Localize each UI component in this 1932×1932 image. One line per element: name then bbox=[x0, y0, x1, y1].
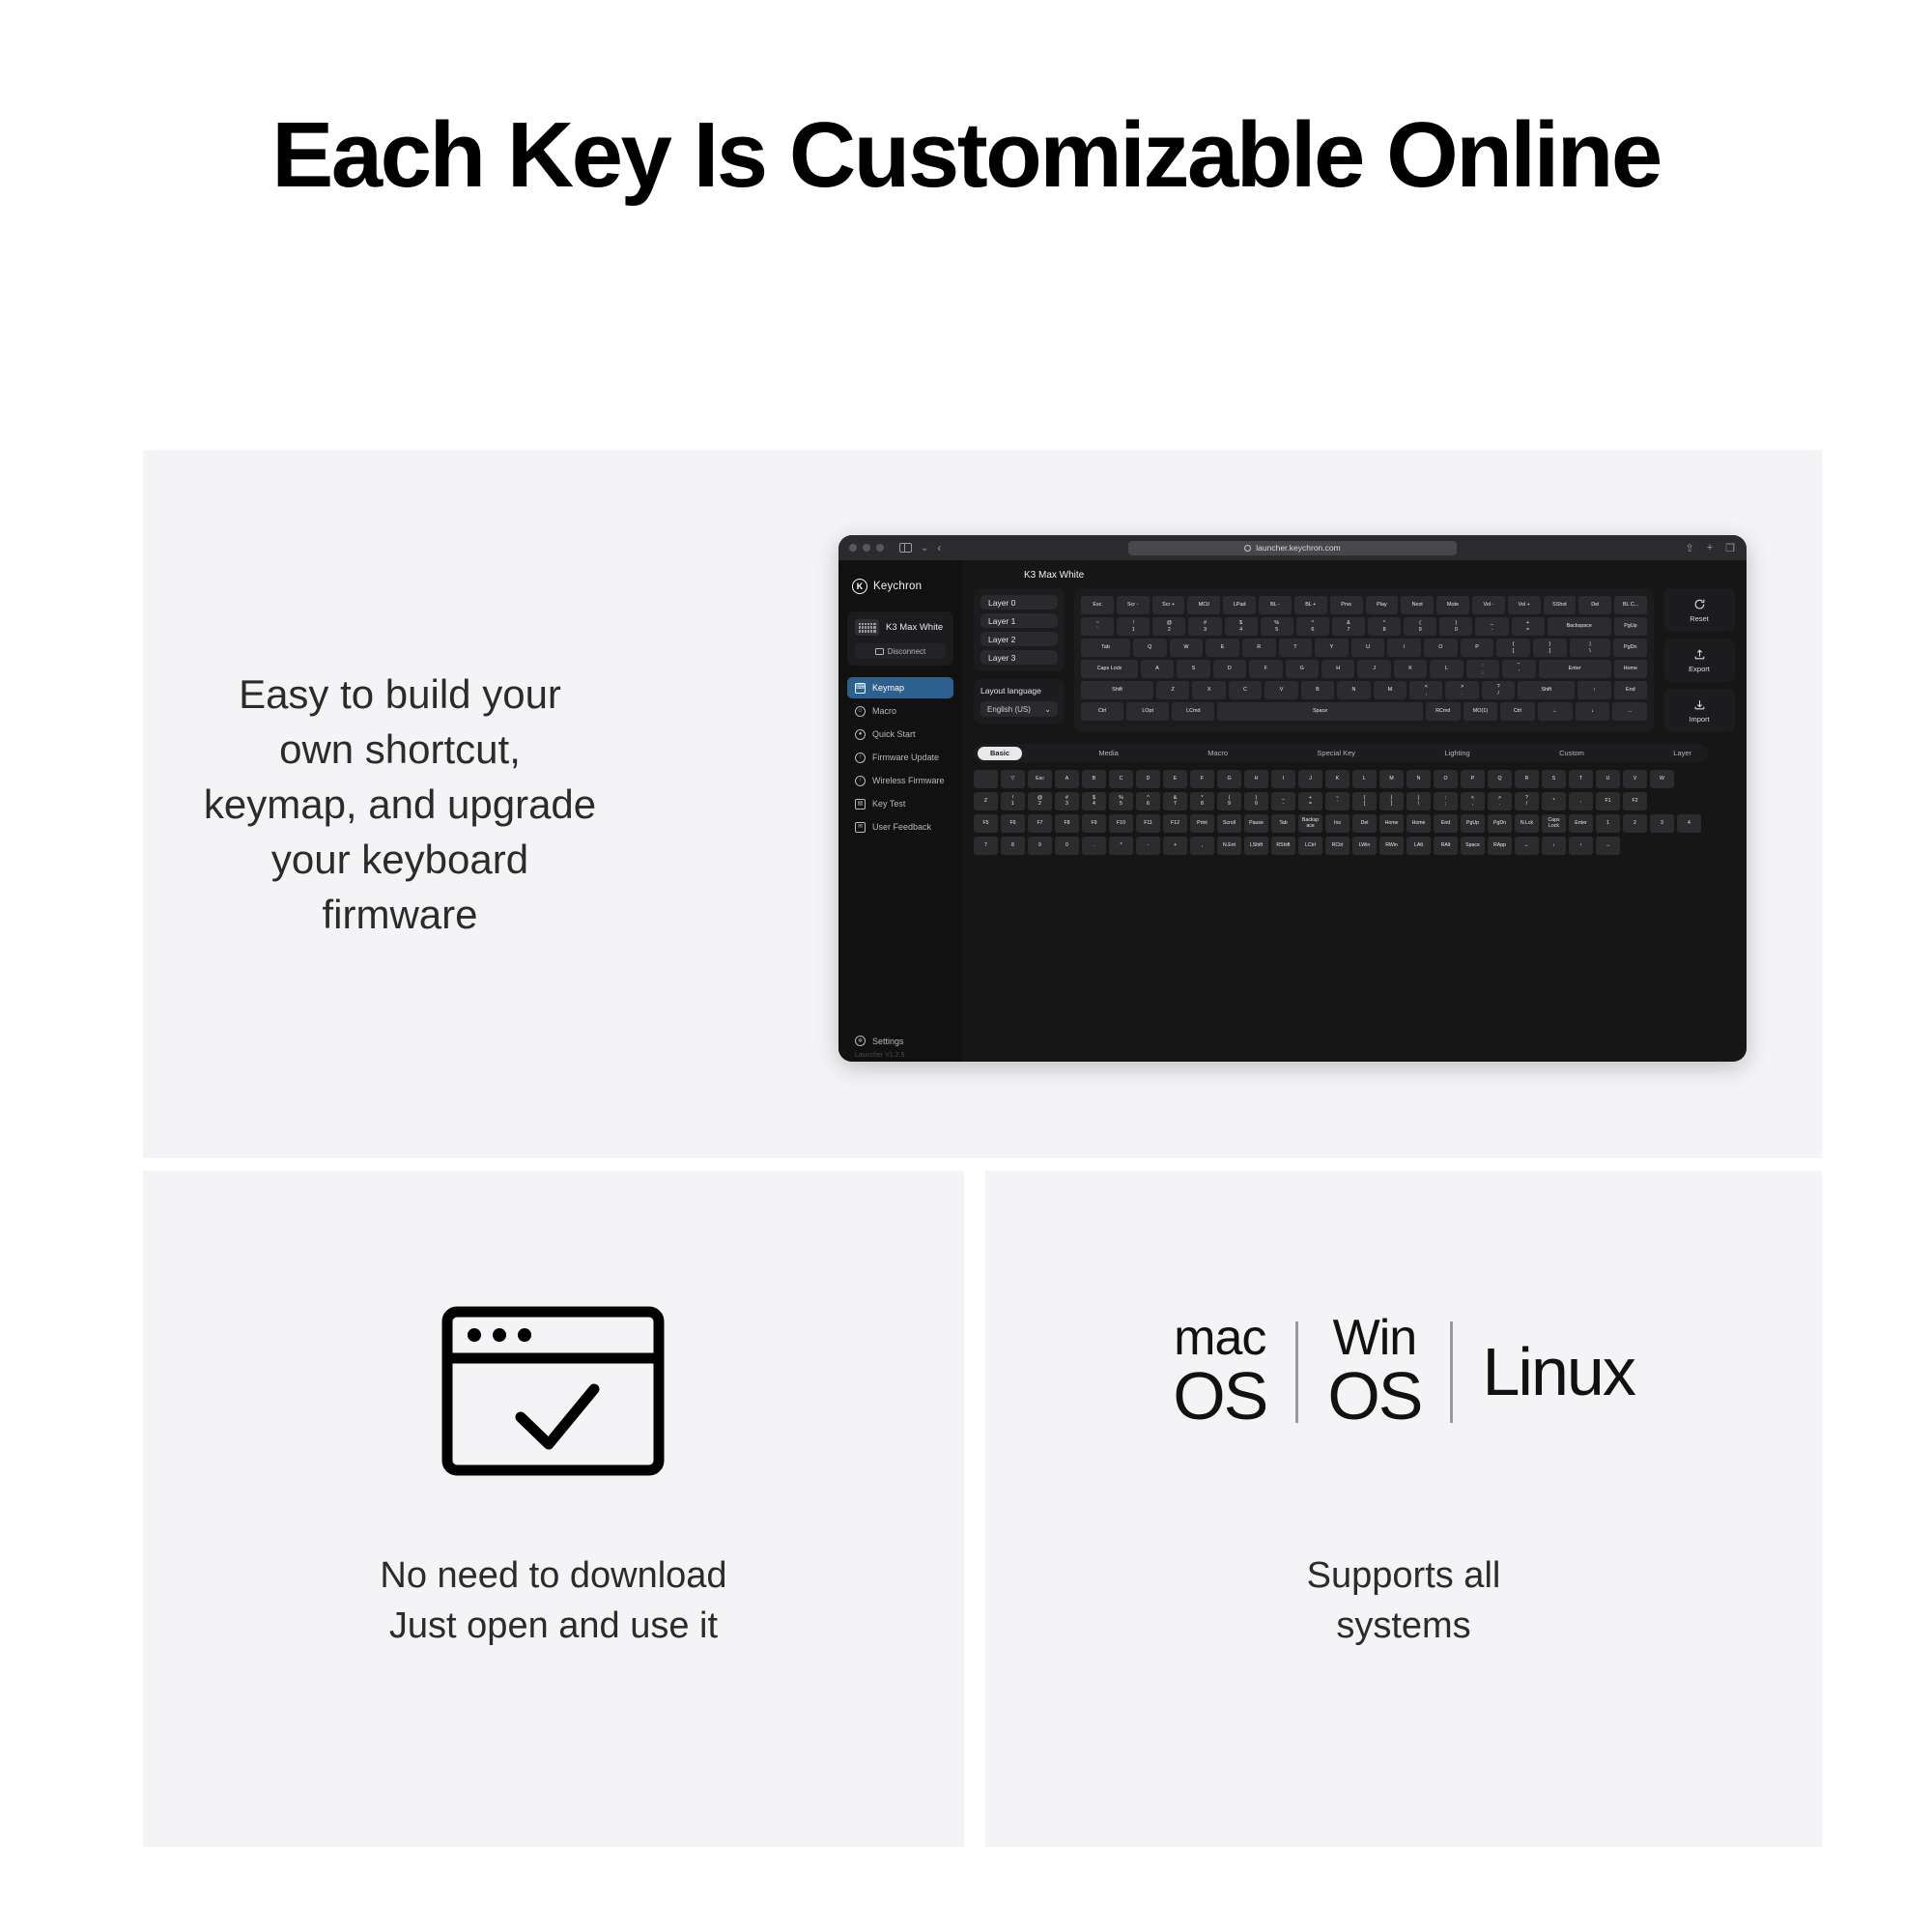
palette-key[interactable]: !1 bbox=[1001, 792, 1025, 810]
keyboard-key[interactable]: Next bbox=[1401, 596, 1434, 614]
lock-icon bbox=[1244, 545, 1251, 552]
palette-key[interactable]: ↓ bbox=[1542, 837, 1566, 855]
keyboard-key[interactable]: LOpt bbox=[1126, 702, 1169, 721]
keyboard-key[interactable]: E bbox=[1206, 639, 1239, 657]
reset-label: Reset bbox=[1690, 614, 1709, 623]
palette-key[interactable]: P bbox=[1461, 770, 1485, 788]
palette-tab-special-key[interactable]: Special Key bbox=[1304, 747, 1368, 760]
palette-key[interactable]: - bbox=[1136, 837, 1160, 855]
palette-key[interactable]: 2 bbox=[1623, 814, 1647, 833]
palette-key[interactable]: ▽ bbox=[1001, 770, 1025, 788]
keyboard-key[interactable]: PgUp bbox=[1614, 617, 1647, 636]
keyboard-key[interactable]: {[ bbox=[1496, 639, 1530, 657]
keyboard-key[interactable]: >. bbox=[1445, 681, 1478, 699]
browser-chrome: ⌄ ‹ launcher.keychron.com ⇧ + ❐ bbox=[838, 535, 1747, 560]
sidebar-item-user-feedback[interactable]: ✉ User Feedback bbox=[847, 816, 953, 838]
keyboard-key[interactable]: A bbox=[1141, 660, 1174, 678]
palette-tab-macro[interactable]: Macro bbox=[1195, 747, 1240, 760]
palette-row: ▽EscABCDEFGHIJKLMNOPQRSTUVW bbox=[974, 770, 1735, 788]
key-test-icon: ▤ bbox=[855, 799, 866, 810]
palette-row: F5F6F7F8F9F10F11F12PrintScrollPauseTabBa… bbox=[974, 814, 1735, 833]
chevron-down-icon[interactable]: ⌄ bbox=[921, 543, 928, 554]
keyboard-key[interactable]: Prvs bbox=[1330, 596, 1363, 614]
palette-key[interactable]: _- bbox=[1271, 792, 1295, 810]
keyboard-row: TabQWERTYUIOP{[}]|\PgDn bbox=[1081, 639, 1647, 657]
keyboard-key[interactable]: BL + bbox=[1294, 596, 1327, 614]
palette-key[interactable]: + bbox=[1163, 837, 1187, 855]
keymap-workspace: Layer 0 Layer 1 Layer 2 Layer 3 Layout l… bbox=[974, 588, 1735, 732]
macos-bottom: OS bbox=[1173, 1363, 1266, 1430]
palette-key[interactable]: Enter bbox=[1569, 814, 1593, 833]
reset-button[interactable]: Reset bbox=[1663, 588, 1735, 632]
palette-key[interactable]: ~` bbox=[1325, 792, 1350, 810]
keyboard-key[interactable]: RCmd bbox=[1426, 702, 1461, 721]
settings-label: Settings bbox=[872, 1037, 904, 1046]
keyboard-key[interactable]: |\ bbox=[1570, 639, 1611, 657]
linux-logo: Linux bbox=[1482, 1339, 1634, 1406]
palette-key[interactable]: K bbox=[1325, 770, 1350, 788]
layer-button-2[interactable]: Layer 2 bbox=[980, 632, 1058, 646]
keyboard-key[interactable]: ↑ bbox=[1577, 681, 1610, 699]
palette-key[interactable]: . bbox=[1082, 837, 1106, 855]
chevron-down-icon: ⌄ bbox=[1044, 705, 1051, 714]
url-bar[interactable]: launcher.keychron.com bbox=[1128, 541, 1457, 555]
palette-key[interactable]: 9 bbox=[1028, 837, 1052, 855]
palette-key[interactable]: A bbox=[1055, 770, 1079, 788]
sidebar-item-keymap[interactable]: ⌨ Keymap bbox=[847, 677, 953, 698]
palette-key[interactable]: F11 bbox=[1136, 814, 1160, 833]
palette-key[interactable]: W bbox=[1650, 770, 1674, 788]
palette-key[interactable]: 1 bbox=[1596, 814, 1620, 833]
palette-key[interactable]: F7 bbox=[1028, 814, 1052, 833]
export-label: Export bbox=[1689, 665, 1710, 673]
export-button[interactable]: Export bbox=[1663, 639, 1735, 682]
palette-tab-custom[interactable]: Custom bbox=[1547, 747, 1597, 760]
palette-key[interactable]: :; bbox=[1434, 792, 1458, 810]
palette-key[interactable]: T bbox=[1569, 770, 1593, 788]
palette-key[interactable]: Home bbox=[1379, 814, 1404, 833]
palette-tab-media[interactable]: Media bbox=[1086, 747, 1130, 760]
sidebar-item-quick-start[interactable]: ● Quick Start bbox=[847, 724, 953, 745]
palette-key[interactable]: >. bbox=[1488, 792, 1512, 810]
app-sidebar: K Keychron K3 Max White Disconnect bbox=[838, 560, 962, 1062]
palette-key[interactable]: F9 bbox=[1082, 814, 1106, 833]
palette-key[interactable]: RAlt bbox=[1434, 837, 1458, 855]
palette-key[interactable]: F2 bbox=[1623, 792, 1647, 810]
sidebar-item-label: Firmware Update bbox=[872, 753, 939, 762]
layout-language-select[interactable]: English (US) ⌄ bbox=[980, 701, 1058, 717]
layout-language-panel: Layout language English (US) ⌄ bbox=[974, 679, 1065, 724]
keyboard-key[interactable]: Ctrl bbox=[1081, 702, 1123, 721]
keyboard-row: ~`!1@2#3$4%5^6&7*8(9)0_-+=BackspacePgUp bbox=[1081, 617, 1647, 636]
palette-key[interactable]: LAlt bbox=[1406, 837, 1431, 855]
keyboard-key[interactable]: Shift bbox=[1518, 681, 1575, 699]
browser-check-icon bbox=[440, 1304, 667, 1483]
palette-key[interactable]: @2 bbox=[1028, 792, 1052, 810]
keyboard-key[interactable]: MO(1) bbox=[1463, 702, 1498, 721]
keyboard-key[interactable]: ↓ bbox=[1576, 702, 1610, 721]
palette-key[interactable]: F8 bbox=[1055, 814, 1079, 833]
layer-button-0[interactable]: Layer 0 bbox=[980, 595, 1058, 610]
keyboard-key[interactable]: Mute bbox=[1436, 596, 1469, 614]
palette-key[interactable]: 8 bbox=[1001, 837, 1025, 855]
wireless-firmware-icon: ↑ bbox=[855, 776, 866, 786]
keyboard-key[interactable]: V bbox=[1264, 681, 1297, 699]
macos-logo: mac OS bbox=[1173, 1314, 1266, 1430]
palette-key[interactable]: $4 bbox=[1082, 792, 1106, 810]
keyboard-key[interactable]: Del bbox=[1578, 596, 1611, 614]
palette-tabs: BasicMediaMacroSpecial KeyLightingCustom… bbox=[974, 744, 1708, 762]
keyboard-key[interactable]: N bbox=[1337, 681, 1370, 699]
bottom-left-caption: No need to download Just open and use it bbox=[143, 1550, 964, 1652]
palette-key[interactable]: M bbox=[1379, 770, 1404, 788]
palette-key[interactable]: Pause bbox=[1244, 814, 1268, 833]
close-icon[interactable] bbox=[849, 544, 857, 552]
keyboard-key[interactable]: P bbox=[1461, 639, 1494, 657]
layer-button-1[interactable]: Layer 1 bbox=[980, 613, 1058, 628]
keyboard-key[interactable]: += bbox=[1512, 617, 1545, 636]
keyboard-key[interactable]: R bbox=[1242, 639, 1276, 657]
keyboard-key[interactable]: Play bbox=[1366, 596, 1399, 614]
key-palette: ▽EscABCDEFGHIJKLMNOPQRSTUVWZ!1@2#3$4%5^6… bbox=[974, 770, 1735, 855]
app-version: Launcher V1.2.5 bbox=[855, 1052, 904, 1059]
url-text: launcher.keychron.com bbox=[1256, 543, 1340, 553]
palette-key[interactable]: O bbox=[1434, 770, 1458, 788]
palette-key[interactable]: End bbox=[1434, 814, 1458, 833]
palette-key[interactable]: D bbox=[1136, 770, 1160, 788]
palette-key[interactable]: PgDn bbox=[1488, 814, 1512, 833]
keyboard-key[interactable]: Q bbox=[1133, 639, 1167, 657]
keyboard-key[interactable]: ?/ bbox=[1482, 681, 1515, 699]
palette-key[interactable]: *8 bbox=[1190, 792, 1214, 810]
feature-card-bottom-right bbox=[985, 1171, 1822, 1847]
palette-key[interactable]: B bbox=[1082, 770, 1106, 788]
bottom-right-caption: Supports all systems bbox=[985, 1550, 1822, 1652]
palette-key[interactable]: )0 bbox=[1244, 792, 1268, 810]
sidebar-item-key-test[interactable]: ▤ Key Test bbox=[847, 793, 953, 814]
palette-key[interactable]: |\ bbox=[1406, 792, 1431, 810]
keyboard-key[interactable]: G bbox=[1286, 660, 1319, 678]
keyboard-key[interactable]: "' bbox=[1502, 660, 1535, 678]
palette-key[interactable]: S bbox=[1542, 770, 1566, 788]
divider bbox=[1295, 1321, 1298, 1423]
keyboard-key[interactable]: Scr - bbox=[1117, 596, 1150, 614]
keyboard-map: EscScr -Scr +MCtlLPadBL -BL +PrvsPlayNex… bbox=[1074, 588, 1654, 732]
keyboard-key[interactable]: I bbox=[1387, 639, 1421, 657]
palette-key[interactable]: &7 bbox=[1163, 792, 1187, 810]
keyboard-key[interactable]: → bbox=[1612, 702, 1647, 721]
palette-key[interactable]: Print bbox=[1190, 814, 1214, 833]
palette-key[interactable]: H bbox=[1244, 770, 1268, 788]
palette-key[interactable]: LWin bbox=[1352, 837, 1377, 855]
palette-key[interactable]: 0 bbox=[1055, 837, 1079, 855]
keyboard-key[interactable]: Caps Lock bbox=[1081, 660, 1138, 678]
keyboard-key[interactable]: T bbox=[1279, 639, 1313, 657]
palette-key[interactable]: (9 bbox=[1217, 792, 1241, 810]
palette-key[interactable]: <, bbox=[1461, 792, 1485, 810]
layout-language-label: Layout language bbox=[980, 686, 1058, 696]
palette-key[interactable]: }] bbox=[1379, 792, 1404, 810]
palette-key[interactable]: ← bbox=[1515, 837, 1539, 855]
keyboard-key[interactable]: Z bbox=[1156, 681, 1189, 699]
keyboard-key[interactable]: K bbox=[1394, 660, 1427, 678]
gear-icon: ✲ bbox=[855, 1036, 866, 1046]
keyboard-key[interactable]: Vol - bbox=[1472, 596, 1505, 614]
keyboard-row: ShiftZXCVBNM<,>.?/Shift↑End bbox=[1081, 681, 1647, 699]
keyboard-key[interactable]: U bbox=[1351, 639, 1385, 657]
keyboard-key[interactable]: D bbox=[1213, 660, 1246, 678]
macro-icon: ☺ bbox=[855, 706, 866, 717]
palette-key[interactable]: LCtrl bbox=[1298, 837, 1322, 855]
quick-start-icon: ● bbox=[855, 729, 866, 740]
palette-key[interactable]: J bbox=[1298, 770, 1322, 788]
palette-key[interactable]: G bbox=[1217, 770, 1241, 788]
keyboard-key[interactable]: Ctrl bbox=[1500, 702, 1535, 721]
keyboard-key[interactable]: End bbox=[1614, 681, 1647, 699]
palette-key[interactable]: * bbox=[1109, 837, 1133, 855]
keyboard-key[interactable]: F bbox=[1249, 660, 1282, 678]
palette-key[interactable]: {[ bbox=[1352, 792, 1377, 810]
disconnect-icon bbox=[875, 648, 884, 655]
sidebar-nav: ⌨ Keymap ☺ Macro ● Quick Start ↑ Firmwar… bbox=[847, 677, 953, 838]
keyboard-key[interactable]: &7 bbox=[1332, 617, 1365, 636]
keyboard-key[interactable]: <, bbox=[1409, 681, 1442, 699]
keyboard-key[interactable]: *8 bbox=[1368, 617, 1401, 636]
feature-card-bottom-left bbox=[143, 1171, 964, 1847]
palette-key[interactable]: , bbox=[1190, 837, 1214, 855]
keyboard-key[interactable]: Backspace bbox=[1548, 617, 1611, 636]
disconnect-label: Disconnect bbox=[888, 647, 926, 656]
sidebar-item-label: Wireless Firmware bbox=[872, 776, 945, 785]
palette-key[interactable]: F1 bbox=[1596, 792, 1620, 810]
keyboard-key[interactable]: Home bbox=[1614, 660, 1647, 678]
keyboard-key[interactable]: H bbox=[1321, 660, 1354, 678]
palette-key[interactable]: LShift bbox=[1244, 837, 1268, 855]
palette-key[interactable]: 4 bbox=[1677, 814, 1701, 833]
keyboard-key[interactable]: B bbox=[1301, 681, 1334, 699]
palette-key[interactable]: Z bbox=[974, 792, 998, 810]
app-viewport: K Keychron K3 Max White Disconnect bbox=[838, 560, 1747, 1062]
keyboard-key[interactable]: Space bbox=[1217, 702, 1423, 721]
palette-key[interactable]: N bbox=[1406, 770, 1431, 788]
palette-tab-lighting[interactable]: Lighting bbox=[1432, 747, 1482, 760]
keyboard-key[interactable]: W bbox=[1170, 639, 1204, 657]
keyboard-key[interactable]: ~` bbox=[1081, 617, 1114, 636]
palette-key[interactable]: %5 bbox=[1109, 792, 1133, 810]
keymap-icon: ⌨ bbox=[855, 683, 866, 694]
layout-language-value: English (US) bbox=[987, 705, 1031, 714]
keyboard-key[interactable]: Enter bbox=[1539, 660, 1611, 678]
import-button[interactable]: Import bbox=[1663, 689, 1735, 732]
palette-key[interactable]: N.Lck bbox=[1515, 814, 1539, 833]
palette-key[interactable]: L bbox=[1352, 770, 1377, 788]
keyboard-key[interactable]: @2 bbox=[1152, 617, 1185, 636]
palette-key[interactable]: F6 bbox=[1001, 814, 1025, 833]
palette-key[interactable]: += bbox=[1298, 792, 1322, 810]
palette-key[interactable]: I bbox=[1271, 770, 1295, 788]
os-support-logos: mac OS Win OS Linux bbox=[985, 1309, 1822, 1435]
sidebar-item-wireless-firmware[interactable]: ↑ Wireless Firmware bbox=[847, 770, 953, 791]
palette-key[interactable] bbox=[974, 770, 998, 788]
keyboard-key[interactable]: Vol + bbox=[1508, 596, 1541, 614]
palette-row: Z!1@2#3$4%5^6&7*8(9)0_-+=~`{[}]|\:;<,>.?… bbox=[974, 792, 1735, 810]
keyboard-key[interactable]: BL C... bbox=[1614, 596, 1647, 614]
sidebar-item-settings[interactable]: ✲ Settings bbox=[847, 1036, 904, 1046]
device-name: K3 Max White bbox=[886, 622, 943, 633]
palette-key[interactable]: Home bbox=[1406, 814, 1431, 833]
keyboard-key[interactable]: S bbox=[1177, 660, 1209, 678]
keyboard-key[interactable]: LCmd bbox=[1172, 702, 1214, 721]
palette-key[interactable]: ?/ bbox=[1515, 792, 1539, 810]
promo-page: Each Key Is Customizable Online Easy to … bbox=[0, 0, 1932, 1932]
palette-key[interactable]: N.Ent bbox=[1217, 837, 1241, 855]
layer-button-3[interactable]: Layer 3 bbox=[980, 650, 1058, 665]
keyboard-key[interactable]: }] bbox=[1533, 639, 1567, 657]
keyboard-key[interactable]: X bbox=[1192, 681, 1225, 699]
reset-icon bbox=[1693, 598, 1706, 611]
palette-key[interactable]: V bbox=[1623, 770, 1647, 788]
brand: K Keychron bbox=[838, 570, 962, 594]
keyboard-key[interactable]: ^6 bbox=[1296, 617, 1329, 636]
palette-tab-layer[interactable]: Layer bbox=[1661, 747, 1704, 760]
palette-key[interactable]: RWin bbox=[1379, 837, 1404, 855]
keyboard-key[interactable]: %5 bbox=[1261, 617, 1293, 636]
palette-key[interactable]: F5 bbox=[974, 814, 998, 833]
palette-key[interactable]: , bbox=[1569, 792, 1593, 810]
keyboard-key[interactable]: L bbox=[1430, 660, 1463, 678]
keychron-logo-icon: K bbox=[852, 579, 867, 594]
keyboard-row: Caps LockASDFGHJKL:;"'EnterHome bbox=[1081, 660, 1647, 678]
sidebar-item-label: User Feedback bbox=[872, 822, 931, 832]
palette-key[interactable]: 3 bbox=[1650, 814, 1674, 833]
keyboard-key[interactable]: #3 bbox=[1188, 617, 1221, 636]
palette-key[interactable]: RCtrl bbox=[1325, 837, 1350, 855]
layers-column: Layer 0 Layer 1 Layer 2 Layer 3 Layout l… bbox=[974, 588, 1065, 732]
maximize-icon[interactable] bbox=[876, 544, 884, 552]
sidebar-item-macro[interactable]: ☺ Macro bbox=[847, 700, 953, 722]
keyboard-key[interactable]: (9 bbox=[1404, 617, 1436, 636]
share-icon[interactable]: ⇧ bbox=[1685, 542, 1693, 554]
keyboard-key[interactable]: Shift bbox=[1081, 681, 1153, 699]
key-palette-section: BasicMediaMacroSpecial KeyLightingCustom… bbox=[974, 744, 1735, 855]
keyboard-key[interactable]: :; bbox=[1466, 660, 1499, 678]
palette-key[interactable]: C bbox=[1109, 770, 1133, 788]
sidebar-item-label: Keymap bbox=[872, 683, 904, 693]
keyboard-key[interactable]: PgDn bbox=[1613, 639, 1647, 657]
palette-key[interactable]: R bbox=[1515, 770, 1539, 788]
export-icon bbox=[1693, 648, 1706, 661]
keyboard-key[interactable]: Esc bbox=[1081, 596, 1114, 614]
palette-key[interactable]: 7 bbox=[974, 837, 998, 855]
palette-key[interactable]: Esc bbox=[1028, 770, 1052, 788]
minimize-icon[interactable] bbox=[863, 544, 870, 552]
main-title: K3 Max White bbox=[1024, 570, 1735, 581]
app-main: K3 Max White Layer 0 Layer 1 Layer 2 Lay… bbox=[962, 560, 1747, 1062]
palette-row: 7890.*-+,N.EntLShiftRShiftLCtrlRCtrlLWin… bbox=[974, 837, 1735, 855]
page-title: Each Key Is Customizable Online bbox=[0, 93, 1932, 219]
sidebar-item-firmware-update[interactable]: ↑ Firmware Update bbox=[847, 747, 953, 768]
linux-label: Linux bbox=[1482, 1339, 1634, 1406]
keyboard-key[interactable]: $4 bbox=[1225, 617, 1258, 636]
sidebar-item-label: Macro bbox=[872, 706, 896, 716]
keyboard-key[interactable]: C bbox=[1229, 681, 1262, 699]
keyboard-key[interactable]: )0 bbox=[1439, 617, 1472, 636]
layer-panel: Layer 0 Layer 1 Layer 2 Layer 3 bbox=[974, 588, 1065, 671]
palette-key[interactable]: Space bbox=[1461, 837, 1485, 855]
firmware-update-icon: ↑ bbox=[855, 753, 866, 763]
palette-key[interactable]: Ins bbox=[1325, 814, 1350, 833]
keyboard-key[interactable]: Tab bbox=[1081, 639, 1130, 657]
palette-key[interactable]: Q bbox=[1488, 770, 1512, 788]
keyboard-key[interactable]: Y bbox=[1315, 639, 1349, 657]
palette-key[interactable]: PgUp bbox=[1461, 814, 1485, 833]
palette-key[interactable]: RApp bbox=[1488, 837, 1512, 855]
browser-window-mock: ⌄ ‹ launcher.keychron.com ⇧ + ❐ K Keychr… bbox=[838, 535, 1747, 1062]
palette-key[interactable]: CapsLock bbox=[1542, 814, 1566, 833]
palette-key[interactable]: Del bbox=[1352, 814, 1377, 833]
keyboard-row: EscScr -Scr +MCtlLPadBL -BL +PrvsPlayNex… bbox=[1081, 596, 1647, 614]
window-traffic-lights[interactable] bbox=[849, 544, 884, 552]
sidebar-item-label: Key Test bbox=[872, 799, 905, 809]
keyboard-key[interactable]: M bbox=[1374, 681, 1406, 699]
chevron-left-icon[interactable]: ‹ bbox=[937, 541, 941, 554]
user-feedback-icon: ✉ bbox=[855, 822, 866, 833]
palette-key[interactable]: U bbox=[1596, 770, 1620, 788]
keyboard-icon bbox=[855, 619, 879, 636]
palette-key[interactable]: F10 bbox=[1109, 814, 1133, 833]
palette-key[interactable]: * bbox=[1542, 792, 1566, 810]
keyboard-key[interactable]: SShot bbox=[1544, 596, 1577, 614]
palette-key[interactable]: ^6 bbox=[1136, 792, 1160, 810]
keyboard-key[interactable]: J bbox=[1357, 660, 1390, 678]
keyboard-key[interactable]: ← bbox=[1538, 702, 1573, 721]
winos-logo: Win OS bbox=[1327, 1314, 1421, 1430]
palette-key[interactable]: Tab bbox=[1271, 814, 1295, 833]
palette-tab-basic[interactable]: Basic bbox=[978, 747, 1022, 760]
import-icon bbox=[1693, 698, 1706, 711]
palette-key[interactable]: F12 bbox=[1163, 814, 1187, 833]
palette-key[interactable]: RShift bbox=[1271, 837, 1295, 855]
keyboard-key[interactable]: BL - bbox=[1259, 596, 1292, 614]
winos-top: Win bbox=[1333, 1314, 1417, 1363]
sidebar-toggle-icon[interactable] bbox=[899, 543, 912, 553]
disconnect-button[interactable]: Disconnect bbox=[855, 643, 946, 659]
keyboard-key[interactable]: !1 bbox=[1117, 617, 1150, 636]
palette-key[interactable]: Scroll bbox=[1217, 814, 1241, 833]
tab-overview-icon[interactable]: ❐ bbox=[1725, 542, 1735, 554]
palette-key[interactable]: → bbox=[1596, 837, 1620, 855]
palette-key[interactable]: Backspace bbox=[1298, 814, 1322, 833]
palette-key[interactable]: #3 bbox=[1055, 792, 1079, 810]
macos-top: mac bbox=[1174, 1314, 1265, 1363]
palette-key[interactable]: E bbox=[1163, 770, 1187, 788]
divider bbox=[1450, 1321, 1453, 1423]
keyboard-key[interactable]: _- bbox=[1475, 617, 1508, 636]
keyboard-key[interactable]: O bbox=[1424, 639, 1458, 657]
keyboard-key[interactable]: Scr + bbox=[1152, 596, 1185, 614]
plus-icon[interactable]: + bbox=[1707, 542, 1713, 554]
top-card-copy: Easy to build your own shortcut, keymap,… bbox=[174, 667, 626, 943]
winos-bottom: OS bbox=[1327, 1363, 1421, 1430]
sidebar-item-label: Quick Start bbox=[872, 729, 916, 739]
palette-key[interactable]: ↑ bbox=[1569, 837, 1593, 855]
keyboard-key[interactable]: MCtl bbox=[1187, 596, 1220, 614]
device-card: K3 Max White Disconnect bbox=[847, 611, 953, 666]
brand-name: Keychron bbox=[873, 581, 922, 592]
keyboard-row: CtrlLOptLCmdSpaceRCmdMO(1)Ctrl←↓→ bbox=[1081, 702, 1647, 721]
keyboard-key[interactable]: LPad bbox=[1223, 596, 1256, 614]
palette-key[interactable]: F bbox=[1190, 770, 1214, 788]
